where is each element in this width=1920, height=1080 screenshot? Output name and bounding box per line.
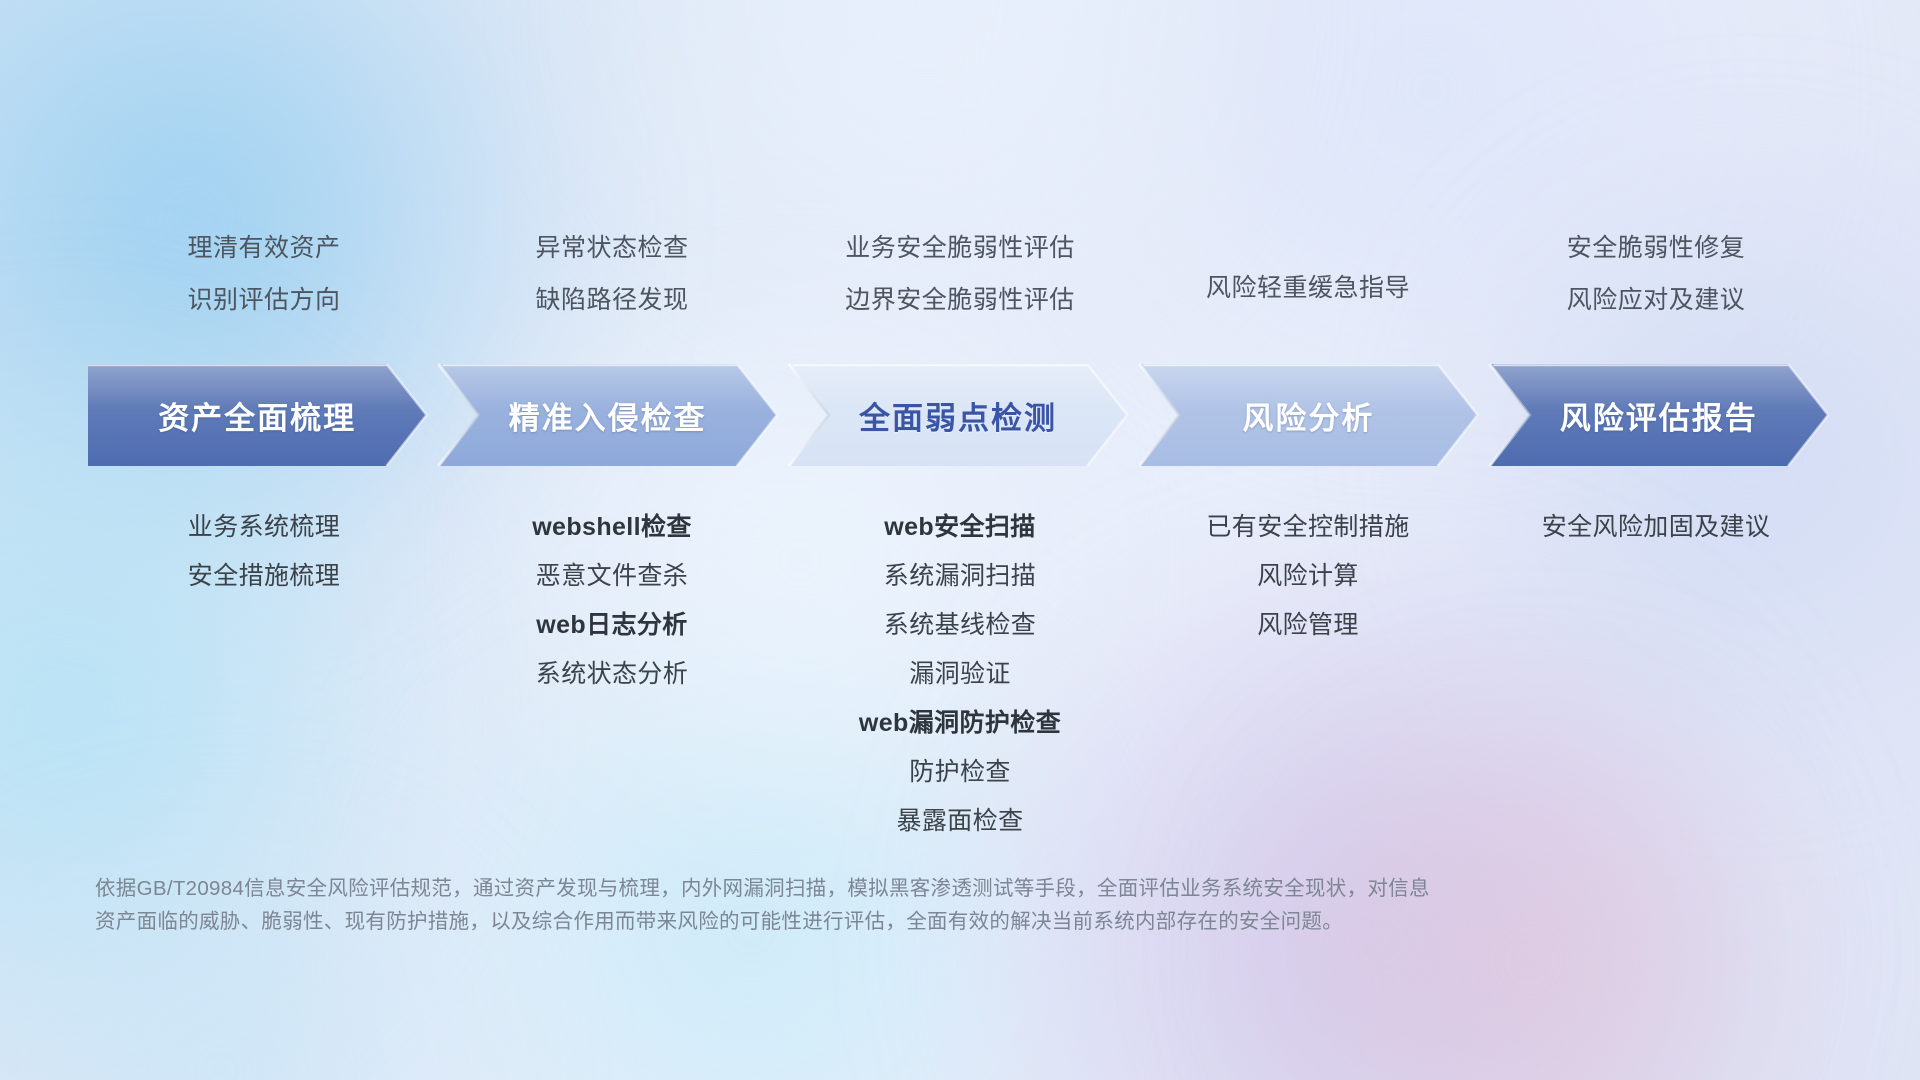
process-chevron-banner: 资产全面梳理精准入侵检查全面弱点检测风险分析风险评估报告 [88,364,1828,466]
chevron-gloss [1490,364,1828,466]
outcome-column-risk-report: 安全脆弱性修复风险应对及建议 [1482,236,1830,313]
activity-column-asset-inventory: 业务系统梳理安全措施梳理 [90,515,438,858]
slide-canvas: 理清有效资产识别评估方向异常状态检查缺陷路径发现业务安全脆弱性评估边界安全脆弱性… [0,0,1920,1080]
chevron-gloss [88,364,426,466]
outcome-column-weakness-detection: 业务安全脆弱性评估边界安全脆弱性评估 [786,236,1134,313]
activity-item: 业务系统梳理 [188,515,340,540]
activity-item: web日志分析 [536,613,687,638]
chevron-gloss [438,364,776,466]
activity-item: 安全风险加固及建议 [1542,515,1771,540]
stage-outcomes-row: 理清有效资产识别评估方向异常状态检查缺陷路径发现业务安全脆弱性评估边界安全脆弱性… [90,236,1830,313]
stage-activities-row: 业务系统梳理安全措施梳理webshell检查恶意文件查杀web日志分析系统状态分… [90,515,1830,858]
activity-column-intrusion-check: webshell检查恶意文件查杀web日志分析系统状态分析 [438,515,786,858]
chevron-svg [88,364,1828,466]
outcome-item: 风险应对及建议 [1567,288,1746,313]
outcome-item: 理清有效资产 [187,236,340,261]
activity-item: 风险管理 [1257,613,1359,638]
outcome-item: 风险轻重缓急指导 [1206,276,1410,301]
activity-column-weakness-detection: web安全扫描系统漏洞扫描系统基线检查漏洞验证web漏洞防护检查防护检查暴露面检… [786,515,1134,858]
activity-item: 漏洞验证 [909,662,1011,687]
activity-item: 暴露面检查 [896,809,1023,834]
outcome-item: 业务安全脆弱性评估 [845,236,1075,261]
activity-item: 防护检查 [909,760,1011,785]
outcome-column-risk-analysis: 风险轻重缓急指导 [1134,236,1482,313]
outcome-item: 缺陷路径发现 [535,288,688,313]
chevron-gloss [1139,364,1477,466]
outcome-item: 识别评估方向 [187,288,340,313]
footer-line-1: 依据GB/T20984信息安全风险评估规范，通过资产发现与梳理，内外网漏洞扫描，… [95,872,1655,905]
activity-item: web安全扫描 [884,515,1035,540]
activity-item: 系统状态分析 [536,662,688,687]
activity-item: 系统漏洞扫描 [884,564,1036,589]
outcome-column-intrusion-check: 异常状态检查缺陷路径发现 [438,236,786,313]
footer-line-2: 资产面临的威胁、脆弱性、现有防护措施，以及综合作用而带来风险的可能性进行评估，全… [95,905,1655,938]
activity-column-risk-analysis: 已有安全控制措施风险计算风险管理 [1134,515,1482,858]
outcome-item: 边界安全脆弱性评估 [845,288,1075,313]
activity-item: web漏洞防护检查 [859,711,1061,736]
activity-item: 安全措施梳理 [188,564,340,589]
activity-item: 已有安全控制措施 [1206,515,1409,540]
activity-item: webshell检查 [532,515,692,540]
outcome-item: 安全脆弱性修复 [1567,236,1746,261]
outcome-column-asset-inventory: 理清有效资产识别评估方向 [90,236,438,313]
activity-item: 风险计算 [1257,564,1359,589]
activity-column-risk-report: 安全风险加固及建议 [1482,515,1830,858]
activity-item: 恶意文件查杀 [536,564,688,589]
outcome-item: 异常状态检查 [535,236,688,261]
chevron-gloss [789,364,1127,466]
activity-item: 系统基线检查 [884,613,1036,638]
footer-description: 依据GB/T20984信息安全风险评估规范，通过资产发现与梳理，内外网漏洞扫描，… [95,872,1655,938]
